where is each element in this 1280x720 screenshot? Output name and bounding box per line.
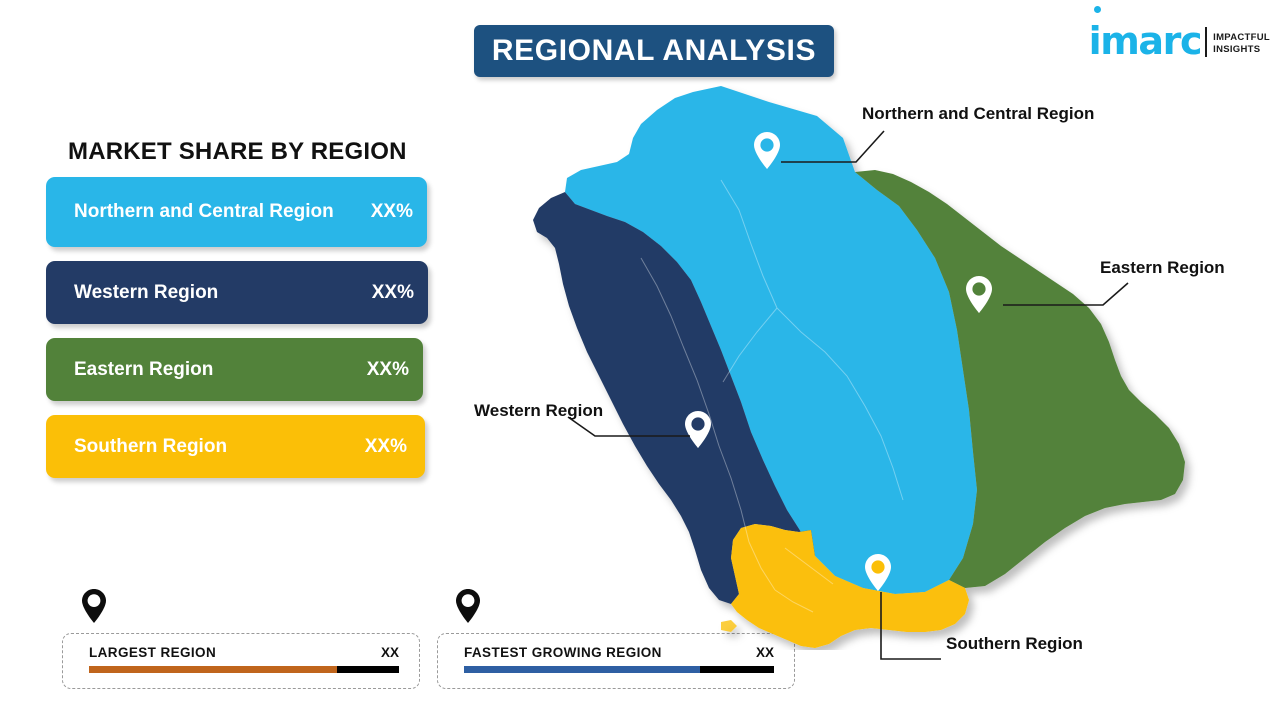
legend-card-northern-and-central[interactable]: Northern and Central Region XX% — [46, 177, 427, 247]
legend-card-eastern[interactable]: Eastern Region XX% — [46, 338, 423, 401]
logo-tagline: IMPACTFUL INSIGHTS — [1213, 32, 1270, 56]
map-svg — [525, 80, 1215, 650]
legend-card-label: Northern and Central Region — [74, 200, 371, 224]
largest-region-label: LARGEST REGION — [89, 645, 216, 660]
map-pin-icon — [454, 588, 482, 624]
legend-card-value: XX% — [365, 436, 411, 458]
regional-analysis-infographic: REGIONAL ANALYSIS imarc IMPACTFUL INSIGH… — [0, 0, 1280, 720]
largest-region-row: LARGEST REGION XX — [63, 634, 419, 660]
logo-dot-icon — [1094, 6, 1101, 13]
largest-region-box: LARGEST REGION XX — [62, 633, 420, 689]
largest-region-progress-track — [89, 666, 399, 673]
imarc-logo: imarc IMPACTFUL INSIGHTS — [1089, 14, 1270, 60]
legend-card-value: XX% — [367, 359, 409, 381]
map-pin-icon — [80, 588, 108, 624]
fastest-growing-region-progress-track — [464, 666, 774, 673]
legend-card-value: XX% — [371, 201, 413, 223]
page-title: REGIONAL ANALYSIS — [492, 34, 816, 68]
legend-card-value: XX% — [372, 282, 414, 304]
largest-region-progress-fill — [89, 666, 337, 673]
legend-card-label: Western Region — [74, 281, 372, 305]
legend-card-label: Southern Region — [74, 435, 365, 459]
callout-label-southern: Southern Region — [946, 634, 1083, 654]
legend-card-southern[interactable]: Southern Region XX% — [46, 415, 425, 478]
saudi-arabia-region-map — [525, 80, 1215, 650]
fastest-growing-region-progress-fill — [464, 666, 700, 673]
logo-tagline-line1: IMPACTFUL — [1213, 32, 1270, 43]
map-detail-island — [721, 620, 737, 632]
page-title-banner: REGIONAL ANALYSIS — [474, 25, 834, 77]
legend-title: MARKET SHARE BY REGION — [68, 138, 407, 166]
callout-label-northern-and-central: Northern and Central Region — [862, 104, 1094, 124]
logo-tagline-line2: INSIGHTS — [1213, 44, 1260, 55]
callout-label-eastern: Eastern Region — [1100, 258, 1225, 278]
logo-divider — [1205, 27, 1207, 57]
logo-wordmark: imarc — [1089, 22, 1202, 60]
legend-card-western[interactable]: Western Region XX% — [46, 261, 428, 324]
legend-card-label: Eastern Region — [74, 358, 367, 382]
legend-card-list: Northern and Central Region XX% Western … — [46, 177, 438, 492]
largest-region-value: XX — [381, 645, 399, 660]
callout-label-western: Western Region — [474, 401, 603, 421]
